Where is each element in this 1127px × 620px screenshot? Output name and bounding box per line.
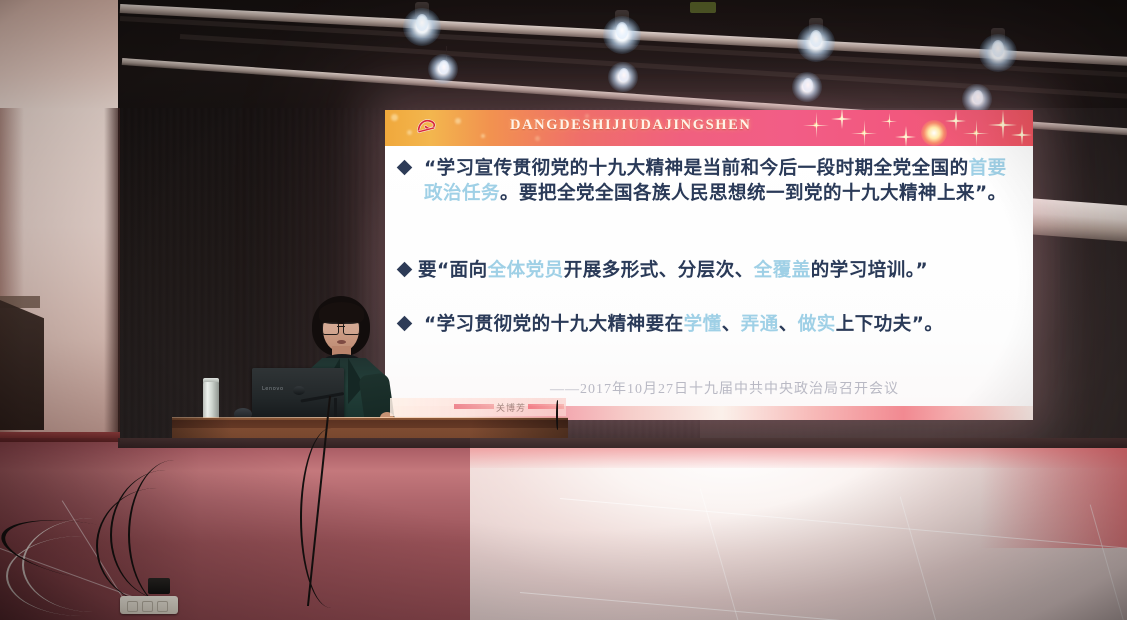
bullet-segment: 要“面向 bbox=[418, 260, 488, 281]
green-tape-marker-1 bbox=[690, 2, 716, 13]
bullet-segment-highlight: 学懂 bbox=[684, 314, 722, 335]
microphone-head bbox=[293, 386, 305, 395]
slide-bullet: 要“面向全体党员开展多形式、分层次、全覆盖的学习培训。” bbox=[399, 258, 1019, 283]
glasses-icon bbox=[322, 322, 360, 333]
name-card-text: 关博芳 bbox=[496, 401, 526, 414]
slide-attribution: ——2017年10月27日十九届中共中央政治局召开会议 bbox=[550, 378, 1020, 398]
bullet-diamond-icon bbox=[397, 316, 413, 332]
stage-back-edge bbox=[118, 438, 1127, 448]
slide-banner: DANGDESHIJIUDAJINGSHEN bbox=[385, 110, 1033, 146]
bullet-segment: 。要把全党全国各族人民思想统一到党的十九大精神上来”。 bbox=[500, 183, 1007, 204]
bullet-segment-highlight: 弄通 bbox=[741, 314, 779, 335]
banner-sparkles bbox=[803, 110, 1033, 146]
stage-spotlight bbox=[412, 2, 432, 36]
ceiling-cable-drop bbox=[556, 400, 559, 430]
power-strip bbox=[120, 596, 178, 614]
presentation-photo-scene: SANTONE bbox=[0, 0, 1127, 620]
slide-banner-title: DANGDESHIJIUDAJINGSHEN bbox=[510, 117, 751, 134]
bullet-segment: 上下功夫”。 bbox=[836, 314, 944, 335]
stage-floor-right-red-glow bbox=[980, 438, 1127, 548]
bullet-text: “学习贯彻党的十九大精神要在学懂、弄通、做实上下功夫”。 bbox=[424, 312, 943, 337]
stage-spotlight bbox=[798, 72, 818, 106]
bullet-diamond-icon bbox=[397, 160, 413, 176]
stage-spotlight bbox=[614, 62, 634, 96]
power-socket bbox=[142, 601, 153, 612]
bullet-text: 要“面向全体党员开展多形式、分层次、全覆盖的学习培训。” bbox=[418, 258, 928, 283]
bullet-segment-highlight: 做实 bbox=[798, 314, 836, 335]
speaker-hair-front bbox=[319, 302, 364, 324]
bullet-segment-highlight: 全覆盖 bbox=[754, 260, 811, 281]
bullet-text: “学习宣传贯彻党的十九大精神是当前和今后一段时期全党全国的首要政治任务。要把全党… bbox=[424, 156, 1019, 206]
bullet-segment-highlight: 全体党员 bbox=[488, 260, 564, 281]
bullet-segment: “学习贯彻党的十九大精神要在 bbox=[424, 314, 684, 335]
bullet-diamond-icon bbox=[397, 262, 413, 278]
stage-spotlight bbox=[612, 10, 632, 44]
floor-cable bbox=[300, 428, 362, 608]
speaker-name-card: 关博芳 bbox=[390, 398, 566, 416]
stage-spotlight bbox=[988, 28, 1008, 62]
left-side-stand bbox=[0, 300, 44, 430]
slide-body: “学习宣传贯彻党的十九大精神是当前和今后一段时期全党全国的首要政治任务。要把全党… bbox=[385, 146, 1033, 420]
speaker-mouth bbox=[337, 340, 346, 344]
power-socket bbox=[127, 601, 138, 612]
slide-bullet: “学习宣传贯彻党的十九大精神是当前和今后一段时期全党全国的首要政治任务。要把全党… bbox=[399, 156, 1019, 206]
power-socket bbox=[157, 601, 168, 612]
water-bottle bbox=[203, 382, 219, 422]
bullet-segment: “学习宣传贯彻党的十九大精神是当前和今后一段时期全党全国的 bbox=[424, 158, 969, 179]
party-emblem-icon bbox=[413, 115, 441, 141]
name-card-stripe-left bbox=[454, 404, 494, 409]
power-plug bbox=[148, 578, 170, 594]
laptop-brand-label: Lenovo bbox=[262, 386, 284, 392]
stage-spotlight bbox=[806, 18, 826, 52]
bullet-segment: 开展多形式、分层次、 bbox=[564, 260, 754, 281]
ceiling-left-wall bbox=[0, 0, 118, 108]
bullet-segment: 的学习培训。” bbox=[811, 260, 928, 281]
bullet-segment: 、 bbox=[722, 314, 741, 335]
bullet-segment: 、 bbox=[779, 314, 798, 335]
projection-screen: DANGDESHIJIUDAJINGSHEN “学习宣传贯彻党的十九大精神是当前… bbox=[385, 110, 1033, 420]
slide-bullet: “学习贯彻党的十九大精神要在学懂、弄通、做实上下功夫”。 bbox=[399, 312, 1019, 337]
stage-spotlight bbox=[434, 54, 454, 88]
